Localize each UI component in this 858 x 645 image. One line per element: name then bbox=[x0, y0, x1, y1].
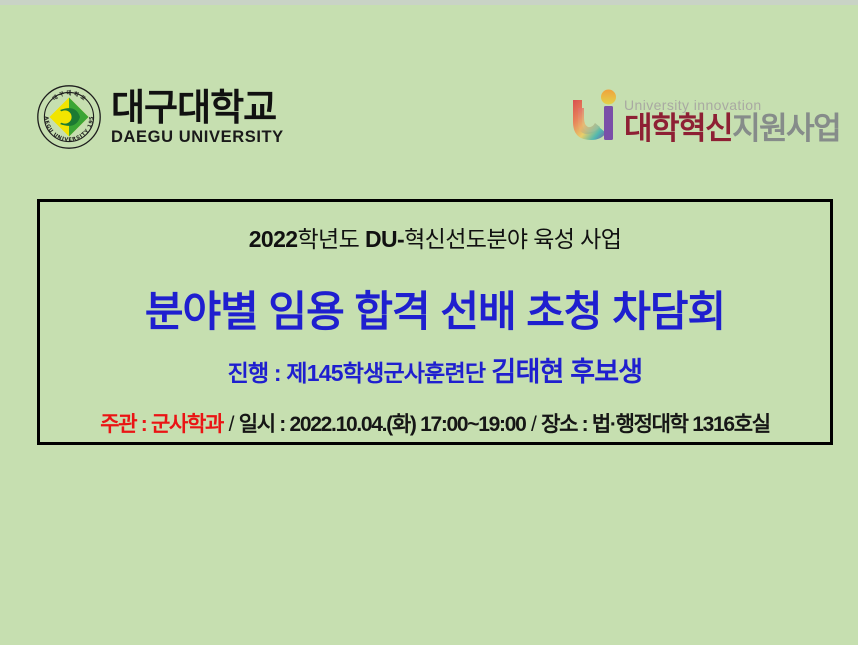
place-label: 장소 : bbox=[541, 413, 592, 436]
program-year-suffix: 학년도 bbox=[298, 226, 360, 252]
program-line: 2022학년도 DU-혁신선도분야 육성 사업 bbox=[40, 220, 830, 254]
event-title: 분야별 임용 합격 선배 초청 차담회 bbox=[40, 278, 830, 339]
place-value: 법·행정대학 1316호실 bbox=[592, 413, 770, 436]
host-unit: 제145학생군사훈련단 bbox=[286, 360, 485, 386]
university-name-ko: 대구대학교 bbox=[111, 89, 284, 126]
program-name-ko: 대학혁신지원사업 bbox=[624, 113, 840, 144]
meta-separator-1: / bbox=[223, 413, 239, 436]
organizer-value: 군사학과 bbox=[151, 413, 223, 436]
daegu-university-seal-icon: 대 구 대 학 교 DAEGU UNIVERSITY 1956 bbox=[36, 84, 102, 150]
daegu-university-logo: 대 구 대 학 교 DAEGU UNIVERSITY 1956 대구대학교 DA… bbox=[36, 84, 284, 150]
university-innovation-wordmark: University innovation 대학혁신지원사업 bbox=[624, 98, 840, 146]
program-year: 2022 bbox=[249, 226, 298, 252]
meta-line: 주관 : 군사학과 / 일시 : 2022.10.04.(화) 17:00~19… bbox=[40, 408, 830, 438]
university-name-en: DAEGU UNIVERSITY bbox=[111, 129, 284, 146]
program-name: 혁신선도분야 육성 사업 bbox=[404, 226, 621, 252]
ui-monogram-icon bbox=[568, 88, 620, 146]
top-edge-strip bbox=[0, 0, 858, 5]
program-name-secondary: 지원사업 bbox=[732, 111, 840, 146]
logo-band: 대 구 대 학 교 DAEGU UNIVERSITY 1956 대구대학교 DA… bbox=[0, 78, 858, 168]
host-label: 진행 : bbox=[228, 360, 287, 386]
notice-box: 2022학년도 DU-혁신선도분야 육성 사업 분야별 임용 합격 선배 초청 … bbox=[37, 199, 833, 445]
university-innovation-logo: University innovation 대학혁신지원사업 bbox=[568, 88, 840, 146]
datetime-value: 2022.10.04.(화) 17:00~19:00 bbox=[290, 413, 526, 436]
organizer-label: 주관 : bbox=[100, 413, 151, 436]
meta-separator-2: / bbox=[525, 413, 541, 436]
host-name: 김태현 후보생 bbox=[491, 357, 642, 387]
host-line: 진행 : 제145학생군사훈련단 김태현 후보생 bbox=[40, 350, 830, 389]
program-name-primary: 대학혁신 bbox=[624, 111, 732, 146]
program-tagline-en: University innovation bbox=[624, 98, 840, 112]
daegu-university-wordmark: 대구대학교 DAEGU UNIVERSITY bbox=[111, 89, 284, 146]
datetime-label: 일시 : bbox=[239, 413, 290, 436]
program-code: DU- bbox=[365, 226, 404, 252]
